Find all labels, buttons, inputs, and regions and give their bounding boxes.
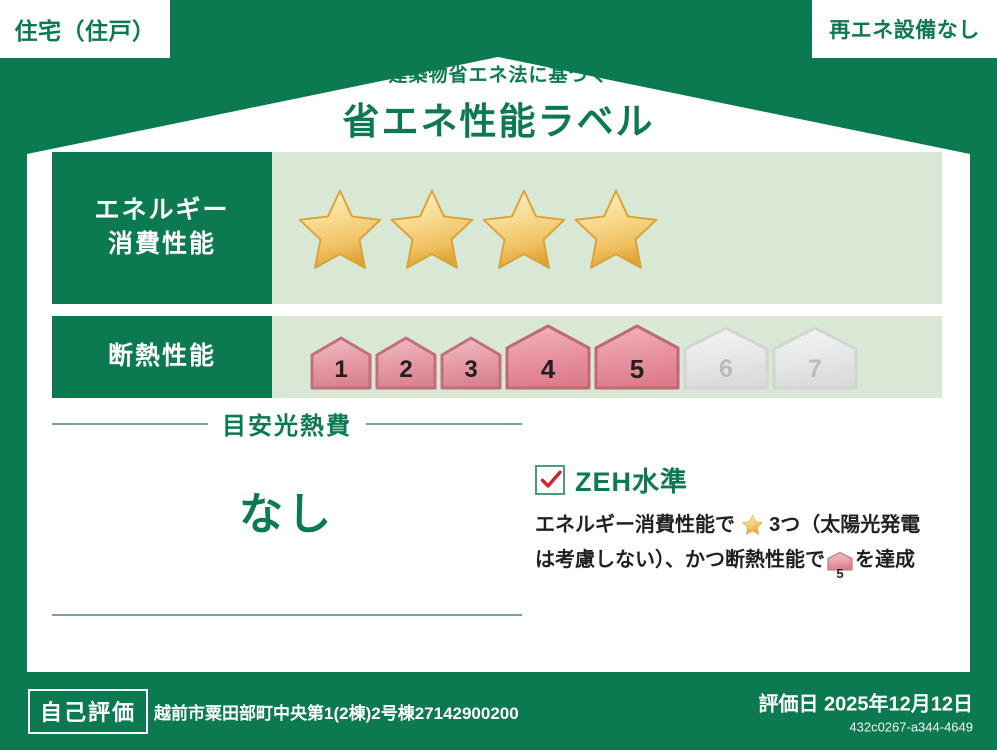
star-icon	[736, 518, 768, 540]
insulation-badge-7: 7	[772, 326, 858, 390]
zeh-desc-star-count: 3つ（太陽光発電	[769, 514, 920, 536]
insulation-badge-3: 3	[440, 336, 502, 390]
insulation-label-text: 断熱性能	[108, 340, 216, 374]
zeh-header: ZEH水準	[535, 460, 945, 499]
insulation-badge-6: 6	[683, 326, 769, 390]
self-evaluation-badge: 自己評価	[28, 689, 148, 734]
star-icon-filled	[572, 186, 660, 270]
energy-performance-row: エネルギー 消費性能	[52, 152, 942, 304]
energy-label-line1: エネルギー	[94, 194, 229, 228]
energy-label-line2: 消費性能	[108, 228, 216, 262]
property-address: 越前市粟田部町中央第1(2棟)2号棟27142900200	[154, 699, 519, 724]
zeh-standard-block: ZEH水準 エネルギー消費性能で 3つ（太陽光発電 は考慮しない）、かつ断熱性能…	[535, 460, 945, 581]
star-icon-filled	[480, 186, 568, 270]
utility-cost-title: 目安光熱費	[208, 406, 366, 441]
zeh-desc-part2: は考慮しない）、かつ断熱性能で	[535, 549, 825, 571]
evaluation-date: 評価日 2025年12月12日	[758, 688, 973, 717]
insulation-performance-value: 1234567	[272, 316, 942, 398]
insulation-performance-label: 断熱性能	[52, 316, 272, 398]
label-title-block: 建築物省エネ法に基づく 省エネ性能ラベル	[0, 60, 997, 145]
zeh-description: エネルギー消費性能で 3つ（太陽光発電 は考慮しない）、かつ断熱性能で	[535, 510, 945, 581]
insulation-badge-row: 1234567	[272, 324, 858, 390]
evaluation-meta: 評価日 2025年12月12日 432c0267-a344-4649	[758, 688, 973, 735]
utility-cost-value: なし	[52, 478, 522, 542]
utility-cost-header: 目安光熱費	[52, 406, 522, 441]
insulation-badge-icon-number: 5	[827, 567, 853, 580]
star-icon-filled	[388, 186, 476, 270]
renewable-energy-tag: 再エネ設備なし	[812, 0, 997, 58]
divider-line-right	[366, 423, 522, 425]
star-rating	[272, 186, 660, 270]
zeh-desc-part1: エネルギー消費性能で	[535, 514, 735, 536]
energy-performance-label: 住宅（住戸） 再エネ設備なし 建築物省エネ法に基づく 省エネ性能ラベル エネルギ…	[0, 0, 997, 750]
divider-line-left	[52, 423, 208, 425]
checkbox-checked-icon	[535, 465, 565, 495]
insulation-badge-1: 1	[310, 336, 372, 390]
energy-performance-value	[272, 152, 942, 304]
insulation-performance-row: 断熱性能 1234567	[52, 316, 942, 398]
zeh-desc-part3: を達成	[855, 549, 915, 571]
star-icon-filled	[296, 186, 384, 270]
title-subtitle: 建築物省エネ法に基づく	[0, 60, 997, 87]
zeh-title: ZEH水準	[575, 460, 688, 499]
page-title: 省エネ性能ラベル	[0, 91, 997, 145]
insulation-badge-5: 5	[594, 324, 680, 390]
label-footer: 自己評価 越前市粟田部町中央第1(2棟)2号棟27142900200 評価日 2…	[0, 672, 997, 750]
evaluation-id: 432c0267-a344-4649	[758, 720, 973, 735]
insulation-badge-icon: 5	[827, 550, 853, 581]
building-type-tag: 住宅（住戸）	[0, 0, 170, 58]
insulation-badge-4: 4	[505, 324, 591, 390]
energy-performance-label: エネルギー 消費性能	[52, 152, 272, 304]
insulation-badge-2: 2	[375, 336, 437, 390]
utility-cost-bottom-divider	[52, 614, 522, 616]
